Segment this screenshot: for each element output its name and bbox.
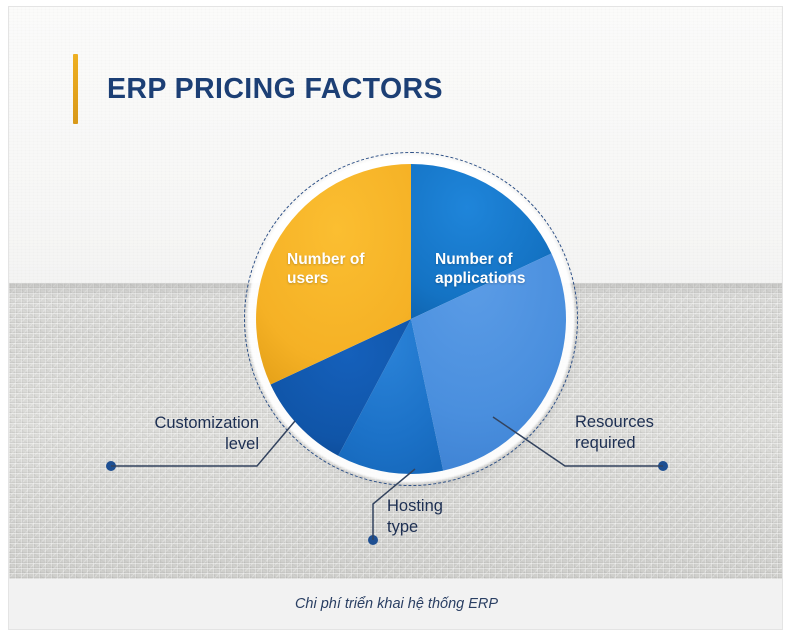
caption-bar: Chi phí triển khai hệ thống ERP	[9, 579, 783, 629]
pie-chart	[256, 164, 566, 474]
slide-frame: ERP PRICING FACTORS	[8, 6, 783, 630]
callout-label-customization-level: Customization level	[119, 413, 259, 456]
slide-canvas: ERP PRICING FACTORS	[0, 0, 791, 636]
callout-label-resources-required: Resources required	[575, 412, 715, 455]
callout-label-hosting-type: Hosting type	[387, 496, 507, 539]
pie-slices	[256, 164, 566, 474]
title-block: ERP PRICING FACTORS	[73, 53, 443, 125]
page-title: ERP PRICING FACTORS	[107, 75, 443, 104]
title-accent-bar	[73, 54, 78, 124]
image-caption: Chi phí triển khai hệ thống ERP	[295, 596, 498, 612]
illustration-area: ERP PRICING FACTORS	[9, 7, 783, 579]
